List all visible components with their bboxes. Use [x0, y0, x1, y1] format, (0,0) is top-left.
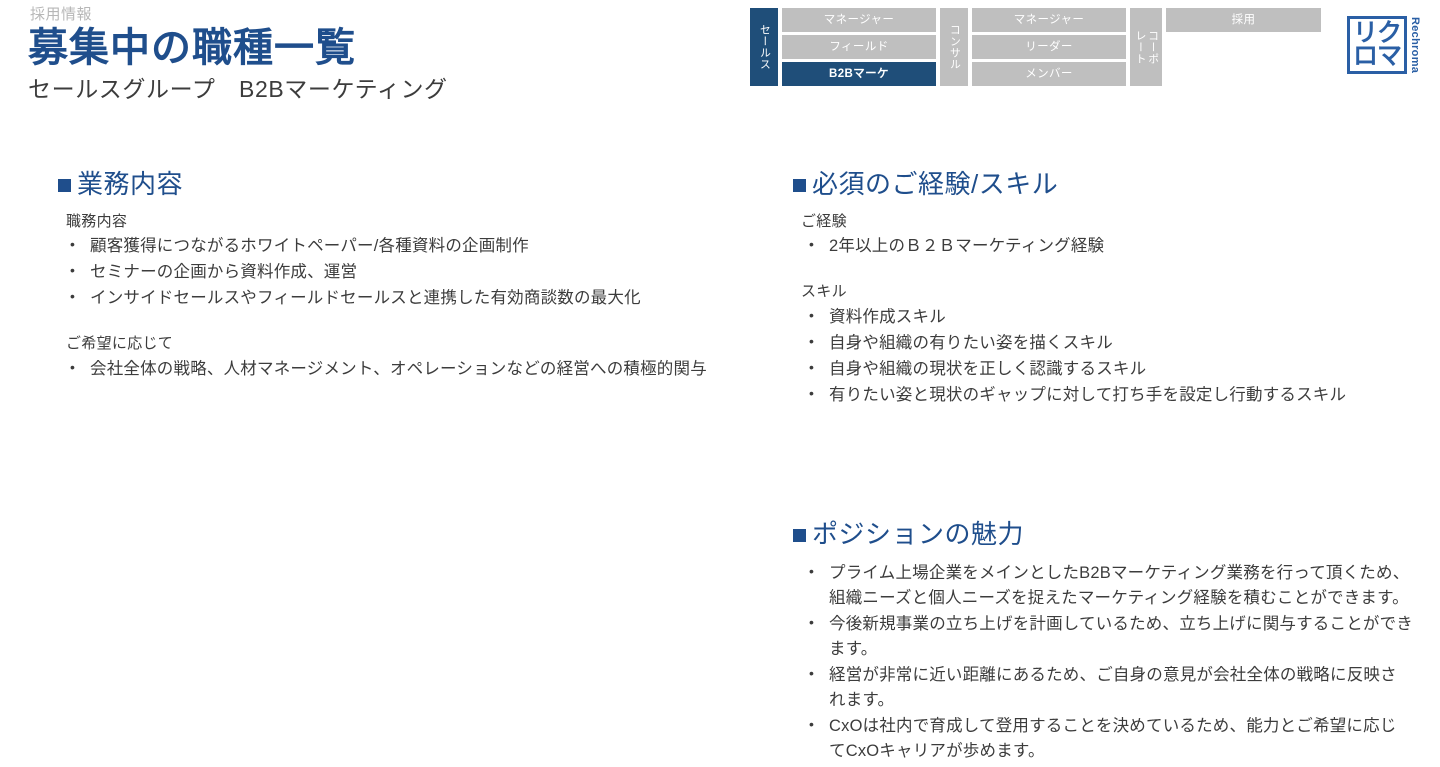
section-heading-charm-text: ポジションの魅力 [812, 518, 1024, 551]
requirements-sublabel-skills: スキル [801, 281, 1413, 304]
duties-sublabel-job-content: 職務内容 [66, 211, 718, 234]
square-bullet-icon [58, 179, 71, 192]
list-item: 有りたい姿と現状のギャップに対して打ち手を設定し行動するスキル [805, 383, 1413, 408]
logo-glyph: リク ロマ [1353, 22, 1401, 68]
list-item: 顧客獲得につながるホワイトペーパー/各種資料の企画制作 [66, 234, 718, 259]
org-group-label-corporate[interactable]: レート コーポ [1130, 8, 1162, 86]
charm-list: プライム上場企業をメインとしたB2Bマーケティング業務を行って頂くため、組織ニー… [793, 561, 1413, 765]
page-subtitle: セールスグループ B2Bマーケティング [28, 75, 728, 105]
duties-list-optional: 会社全体の戦略、人材マネージメント、オペレーションなどの経営への積極的関与 [58, 357, 718, 382]
org-group-consulting: コンサル マネージャー リーダー メンバー [940, 8, 1126, 86]
org-group-label-corporate-part1: コーポ [1146, 30, 1159, 65]
org-group-label-sales[interactable]: セールス [750, 8, 778, 86]
company-logo: リク ロマ Rechroma [1347, 16, 1420, 74]
list-item: セミナーの企画から資料作成、運営 [66, 260, 718, 285]
requirements-list-experience: 2年以上のＢ２Ｂマーケティング経験 [793, 234, 1413, 259]
list-item: 会社全体の戦略、人材マネージメント、オペレーションなどの経営への積極的関与 [66, 357, 718, 382]
section-heading-duties-text: 業務内容 [77, 168, 183, 201]
org-chip-corporate-recruiting[interactable]: 採用 [1166, 8, 1321, 32]
requirements-list-skills: 資料作成スキル 自身や組織の有りたい姿を描くスキル 自身や組織の現状を正しく認識… [793, 305, 1413, 408]
section-heading-duties: 業務内容 [58, 168, 718, 201]
list-item: 自身や組織の有りたい姿を描くスキル [805, 331, 1413, 356]
square-bullet-icon [793, 529, 806, 542]
eyebrow-label: 採用情報 [30, 4, 728, 25]
org-group-label-consulting[interactable]: コンサル [940, 8, 968, 86]
list-item: 資料作成スキル [805, 305, 1413, 330]
org-chip-sales-field[interactable]: フィールド [782, 35, 936, 59]
logo-glyph-line2: ロマ [1353, 45, 1401, 68]
section-requirements: 必須のご経験/スキル ご経験 2年以上のＢ２Ｂマーケティング経験 スキル 資料作… [793, 168, 1413, 409]
requirements-sublabel-experience: ご経験 [801, 211, 1413, 234]
org-chip-column-corporate: 採用 [1166, 8, 1321, 32]
org-chip-consulting-leader[interactable]: リーダー [972, 35, 1126, 59]
org-navigation-map: セールス マネージャー フィールド B2Bマーケ コンサル マネージャー リーダ… [750, 8, 1321, 86]
section-heading-charm: ポジションの魅力 [793, 518, 1413, 551]
list-item: 経営が非常に近い距離にあるため、ご自身の意見が会社全体の戦略に反映されます。 [805, 663, 1413, 713]
list-item: 2年以上のＢ２Ｂマーケティング経験 [805, 234, 1413, 259]
org-chip-column-sales: マネージャー フィールド B2Bマーケ [782, 8, 936, 86]
org-chip-column-consulting: マネージャー リーダー メンバー [972, 8, 1126, 86]
duties-sublabel-optional: ご希望に応じて [66, 333, 718, 356]
list-item: 自身や組織の現状を正しく認識するスキル [805, 357, 1413, 382]
logo-wordmark: Rechroma [1409, 17, 1420, 73]
square-bullet-icon [793, 179, 806, 192]
org-chip-consulting-member[interactable]: メンバー [972, 62, 1126, 86]
section-duties: 業務内容 職務内容 顧客獲得につながるホワイトペーパー/各種資料の企画制作 セミ… [58, 168, 718, 383]
org-group-sales: セールス マネージャー フィールド B2Bマーケ [750, 8, 936, 86]
list-item: CxOは社内で育成して登用することを決めているため、能力とご希望に応じてCxOキ… [805, 714, 1413, 764]
org-chip-sales-manager[interactable]: マネージャー [782, 8, 936, 32]
org-chip-consulting-manager[interactable]: マネージャー [972, 8, 1126, 32]
list-item: インサイドセールスやフィールドセールスと連携した有効商談数の最大化 [66, 286, 718, 311]
org-group-label-corporate-part2: レート [1133, 30, 1146, 65]
list-item: プライム上場企業をメインとしたB2Bマーケティング業務を行って頂くため、組織ニー… [805, 561, 1413, 611]
section-heading-requirements: 必須のご経験/スキル [793, 168, 1413, 201]
page-header: 採用情報 募集中の職種一覧 セールスグループ B2Bマーケティング [28, 4, 728, 105]
duties-list-job-content: 顧客獲得につながるホワイトペーパー/各種資料の企画制作 セミナーの企画から資料作… [58, 234, 718, 311]
logo-box: リク ロマ [1347, 16, 1407, 74]
section-heading-requirements-text: 必須のご経験/スキル [812, 168, 1058, 201]
org-chip-sales-b2b-marketing[interactable]: B2Bマーケ [782, 62, 936, 86]
page-title: 募集中の職種一覧 [28, 26, 728, 71]
list-item: 今後新規事業の立ち上げを計画しているため、立ち上げに関与することができます。 [805, 612, 1413, 662]
org-group-corporate: レート コーポ 採用 [1130, 8, 1321, 86]
section-charm: ポジションの魅力 プライム上場企業をメインとしたB2Bマーケティング業務を行って… [793, 518, 1413, 765]
